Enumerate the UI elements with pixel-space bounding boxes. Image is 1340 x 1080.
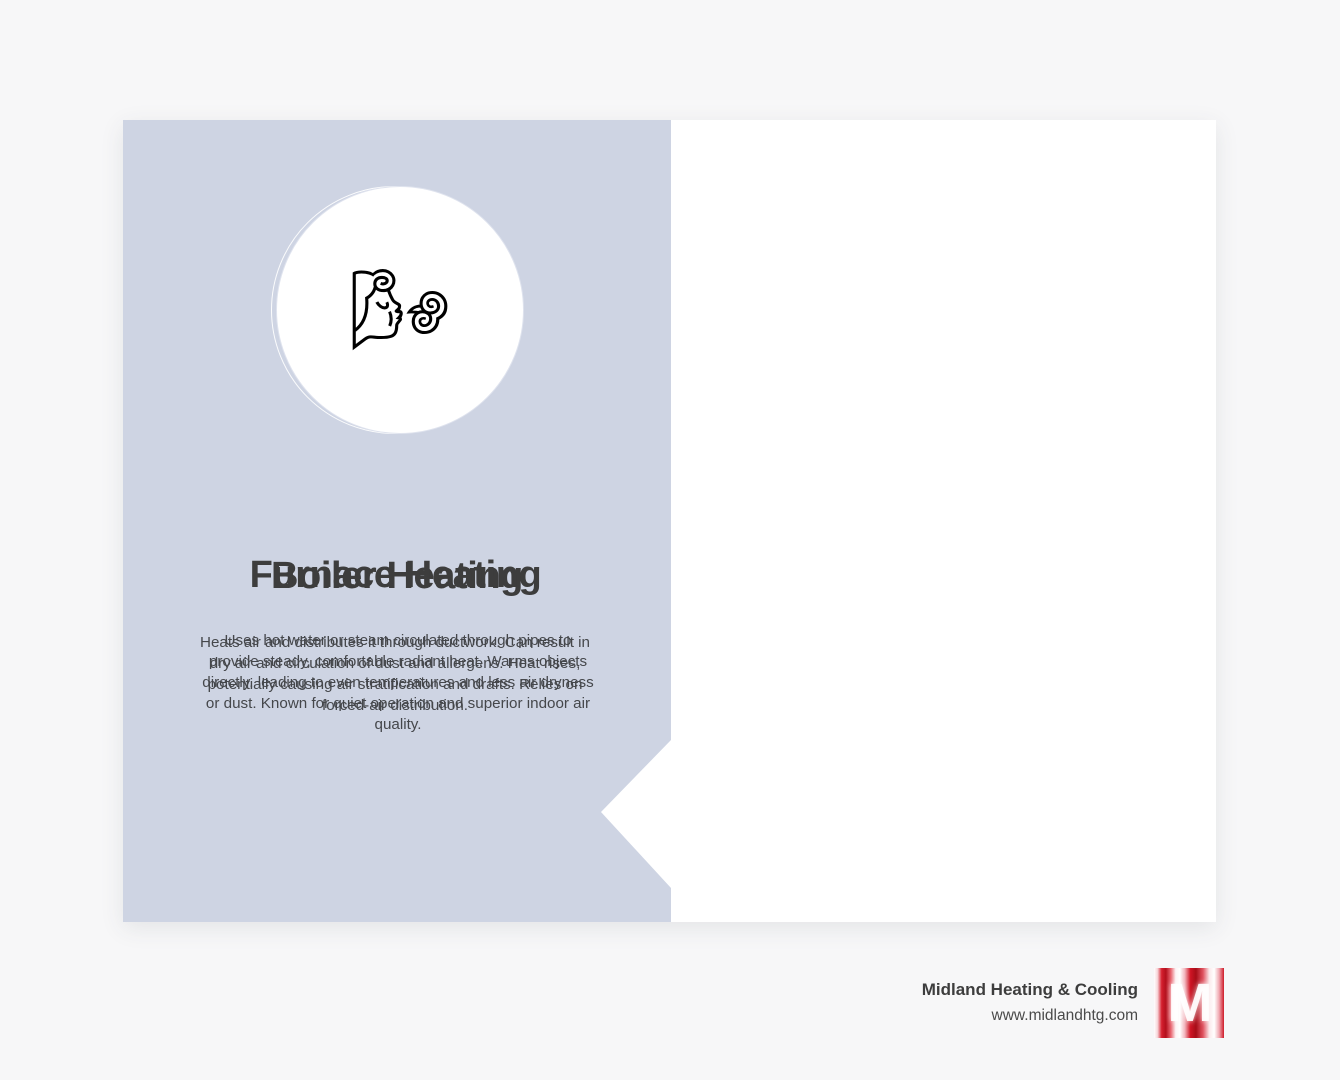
furnace-title: Furnace Heating bbox=[123, 554, 668, 597]
brand-logo-letter: M bbox=[1154, 968, 1224, 1038]
comparison-card: 🔥 🌬 Boiler Heating Uses hot water or ste… bbox=[123, 120, 1216, 922]
brand-text-block: Midland Heating & Cooling www.midlandhtg… bbox=[922, 977, 1138, 1029]
furnace-description: Heats air and distributes it through duc… bbox=[189, 632, 601, 716]
brand-logo-icon: M bbox=[1154, 968, 1224, 1038]
panel-furnace bbox=[671, 120, 1216, 922]
furnace-icon-badge: 🌬 bbox=[276, 186, 526, 436]
brand-url[interactable]: www.midlandhtg.com bbox=[922, 1003, 1138, 1029]
furnace-icon-circle: 🌬 bbox=[276, 186, 524, 434]
wind-face-icon: 🌬 bbox=[349, 270, 451, 350]
brand-footer: Midland Heating & Cooling www.midlandhtg… bbox=[884, 963, 1224, 1043]
brand-name: Midland Heating & Cooling bbox=[922, 977, 1138, 1003]
